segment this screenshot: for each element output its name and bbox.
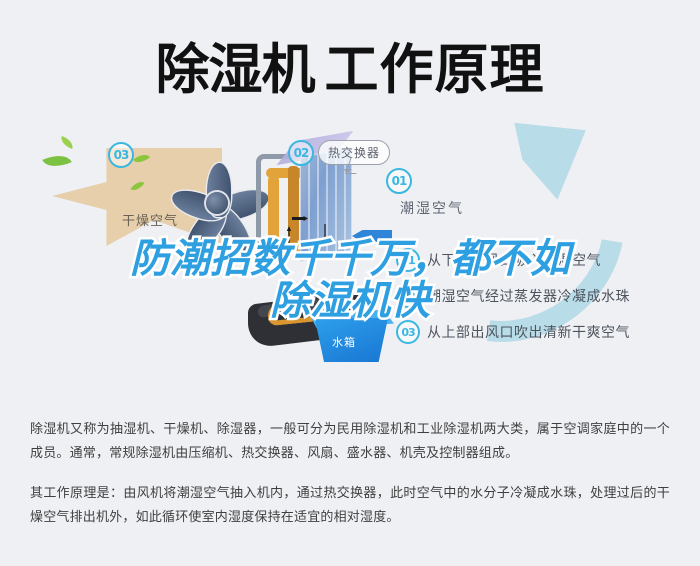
legend-text: 从下部进风口吸入潮湿空气 — [427, 250, 601, 270]
diagram-legend: 01 从下部进风口吸入潮湿空气 02 潮湿空气经过蒸发器冷凝成水珠 03 从上部… — [396, 248, 696, 356]
water-tank-icon: 水箱 — [310, 308, 400, 364]
legend-badge: 01 — [396, 248, 420, 272]
leaf-icon — [42, 149, 71, 172]
body-paragraph-2: 其工作原理是：由风机将潮湿空气抽入机内，通过热交换器，此时空气中的水分子冷凝成水… — [0, 482, 700, 530]
intake-arrow-icon — [352, 230, 392, 242]
legend-text: 从上部出风口吹出清新干爽空气 — [427, 322, 630, 342]
leaf-icon — [59, 136, 75, 149]
dehumidifier-diagram: 干燥空气 — [0, 120, 700, 410]
badge-heat-exchanger: 02 — [288, 140, 314, 166]
badge-humid-air: 01 — [386, 168, 412, 194]
legend-item: 03 从上部出风口吹出清新干爽空气 — [396, 320, 696, 344]
page-root: 除湿机工作原理 干燥空气 — [0, 0, 700, 566]
page-title-part-2: 工作原理 — [325, 38, 545, 101]
water-tank-label: 水箱 — [332, 334, 356, 350]
page-title: 除湿机工作原理 — [0, 30, 700, 110]
badge-dry-air: 03 — [108, 142, 134, 168]
legend-text: 潮湿空气经过蒸发器冷凝成水珠 — [427, 286, 630, 306]
legend-item: 01 从下部进风口吸入潮湿空气 — [396, 248, 696, 272]
body-paragraph-1: 除湿机又称为抽湿机、干燥机、除湿器，一般可分为民用除湿机和工业除湿机两大类，属于… — [0, 418, 700, 466]
humid-air-label: 潮湿空气 — [400, 198, 464, 218]
legend-badge: 03 — [396, 320, 420, 344]
legend-item: 02 潮湿空气经过蒸发器冷凝成水珠 — [396, 284, 696, 308]
page-title-part-1: 除湿机 — [156, 38, 315, 101]
legend-badge: 02 — [396, 284, 420, 308]
article-body: 除湿机又称为抽湿机、干燥机、除湿器，一般可分为民用除湿机和工业除湿机两大类，属于… — [0, 418, 700, 530]
page-title-text: 除湿机工作原理 — [156, 43, 545, 97]
